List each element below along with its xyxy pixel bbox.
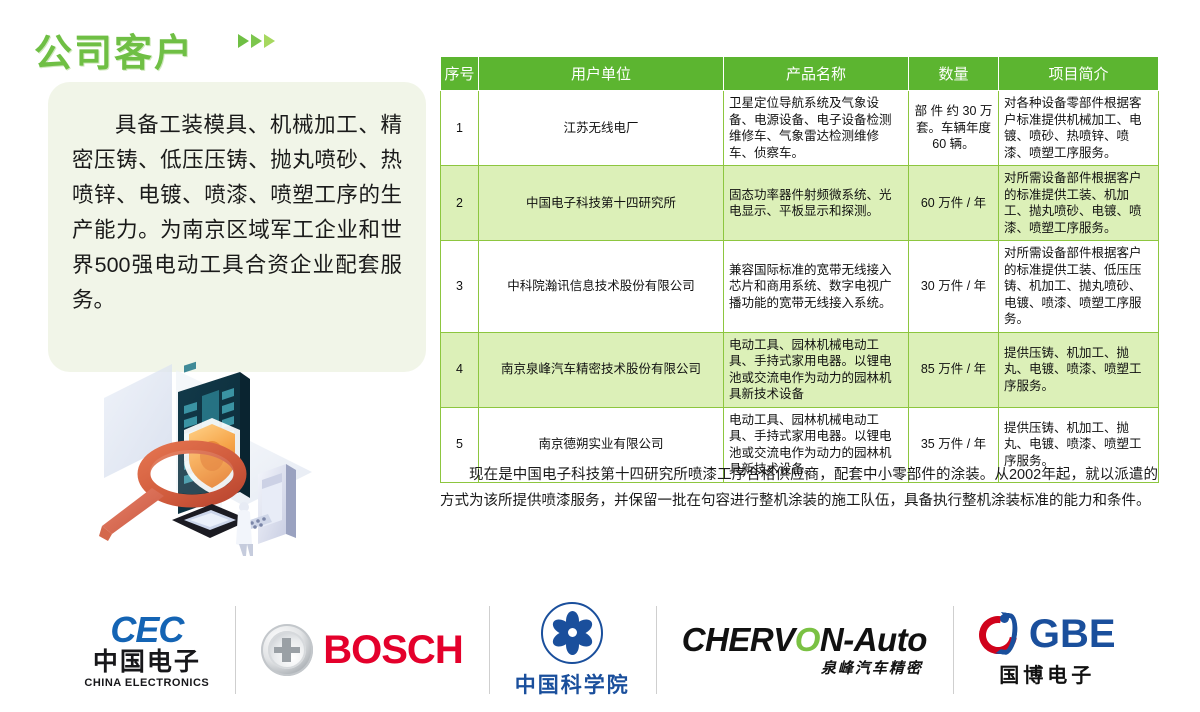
- cell-desc: 提供压铸、机加工、抛丸、电镀、喷漆、喷塑工序服务。: [999, 332, 1159, 407]
- logo-cec: CEC 中国电子 CHINA ELECTRONICS: [58, 602, 235, 698]
- cell-unit: 南京泉峰汽车精密技术股份有限公司: [479, 332, 724, 407]
- cell-product: 卫星定位导航系统及气象设备、电源设备、电子设备检测维修车、气象雷达检测维修车、侦…: [724, 91, 909, 166]
- cell-desc: 对所需设备部件根据客户的标准提供工装、低压压铸、机加工、抛丸喷砂、电镀、喷漆、喷…: [999, 241, 1159, 333]
- cell-unit: 中科院瀚讯信息技术股份有限公司: [479, 241, 724, 333]
- cell-no: 4: [441, 332, 479, 407]
- cec-logo-sub: CHINA ELECTRONICS: [84, 678, 209, 689]
- chervon-logo-part2: N-Auto: [820, 621, 927, 658]
- logo-chervon: CHERVON-Auto 泉峰汽车精密: [656, 602, 953, 698]
- cell-desc: 对所需设备部件根据客户的标准提供工装、机加工、抛丸喷砂、电镀、喷漆、喷塑工序服务…: [999, 166, 1159, 241]
- cell-qty: 部 件 约 30 万套。车辆年度 60 辆。: [909, 91, 999, 166]
- chervon-o-icon: O: [795, 621, 820, 658]
- cell-no: 1: [441, 91, 479, 166]
- table-row: 4 南京泉峰汽车精密技术股份有限公司 电动工具、园林机械电动工具、手持式家用电器…: [441, 332, 1159, 407]
- column-header-unit: 用户单位: [479, 57, 724, 91]
- cell-no: 3: [441, 241, 479, 333]
- bosch-logo-text: BOSCH: [323, 628, 462, 673]
- column-header-product: 产品名称: [724, 57, 909, 91]
- cec-logo-text: CEC: [84, 612, 209, 648]
- cell-product: 固态功率器件射频微系统、光电显示、平板显示和探测。: [724, 166, 909, 241]
- gbe-logo-text: GBE: [1029, 612, 1116, 657]
- clients-table-container: 序号 用户单位 产品名称 数量 项目简介 1 江苏无线电厂 卫星定位导航系统及气…: [440, 56, 1158, 483]
- cell-no: 2: [441, 166, 479, 241]
- page-title: 公司客户: [34, 22, 194, 77]
- table-header-row: 序号 用户单位 产品名称 数量 项目简介: [441, 57, 1159, 91]
- bosch-emblem-icon: [261, 624, 313, 676]
- cell-unit: 江苏无线电厂: [479, 91, 724, 166]
- clients-table: 序号 用户单位 产品名称 数量 项目简介 1 江苏无线电厂 卫星定位导航系统及气…: [440, 56, 1159, 483]
- column-header-no: 序号: [441, 57, 479, 91]
- gbe-logo-cn: 国博电子: [979, 659, 1116, 688]
- description-text: 具备工装模具、机械加工、精密压铸、低压压铸、抛丸喷砂、热喷锌、电镀、喷漆、喷塑工…: [72, 108, 402, 318]
- cell-desc: 对各种设备零部件根据客户标准提供机械加工、电镀、喷砂、热喷锌、喷漆、喷塑工序服务…: [999, 91, 1159, 166]
- note-paragraph: 现在是中国电子科技第十四研究所喷漆工序合格供应商，配套中小零部件的涂装。从200…: [440, 462, 1158, 514]
- cell-qty: 30 万件 / 年: [909, 241, 999, 333]
- cec-logo-cn: 中国电子: [84, 650, 209, 675]
- description-card: 具备工装模具、机械加工、精密压铸、低压压铸、抛丸喷砂、热喷锌、电镀、喷漆、喷塑工…: [48, 82, 426, 372]
- left-column: 公司客户 具备工装模具、机械加工、精密压铸、低压压铸、抛丸喷砂、热喷锌、电镀、喷…: [0, 0, 440, 570]
- gbe-emblem-icon: [979, 613, 1023, 657]
- table-row: 1 江苏无线电厂 卫星定位导航系统及气象设备、电源设备、电子设备检测维修车、气象…: [441, 91, 1159, 166]
- cell-qty: 85 万件 / 年: [909, 332, 999, 407]
- cas-emblem-icon: [541, 602, 603, 664]
- cell-unit: 中国电子科技第十四研究所: [479, 166, 724, 241]
- cell-product: 兼容国际标准的宽带无线接入芯片和商用系统、数字电视广播功能的宽带无线接入系统。: [724, 241, 909, 333]
- cell-product: 电动工具、园林机械电动工具、手持式家用电器。以锂电池或交流电作为动力的园林机具新…: [724, 332, 909, 407]
- cas-logo-cn: 中国科学院: [515, 669, 630, 699]
- isometric-security-chip-illustration: [72, 352, 352, 570]
- cell-qty: 60 万件 / 年: [909, 166, 999, 241]
- column-header-desc: 项目简介: [999, 57, 1159, 91]
- table-row: 2 中国电子科技第十四研究所 固态功率器件射频微系统、光电显示、平板显示和探测。…: [441, 166, 1159, 241]
- logo-cas: 中国科学院: [489, 602, 656, 698]
- triple-chevron-right-icon: [238, 34, 275, 48]
- partner-logo-bar: CEC 中国电子 CHINA ELECTRONICS BOSCH: [0, 588, 1200, 712]
- logo-bosch: BOSCH: [235, 602, 488, 698]
- chervon-logo-cn: 泉峰汽车精密: [682, 657, 927, 678]
- chervon-logo-part1: CHERV: [682, 621, 795, 658]
- table-row: 3 中科院瀚讯信息技术股份有限公司 兼容国际标准的宽带无线接入芯片和商用系统、数…: [441, 241, 1159, 333]
- column-header-qty: 数量: [909, 57, 999, 91]
- logo-gbe: GBE 国博电子: [953, 602, 1142, 698]
- chervon-logo-text: CHERVON-Auto: [682, 623, 927, 656]
- slide-page: 公司客户 具备工装模具、机械加工、精密压铸、低压压铸、抛丸喷砂、热喷锌、电镀、喷…: [0, 0, 1200, 712]
